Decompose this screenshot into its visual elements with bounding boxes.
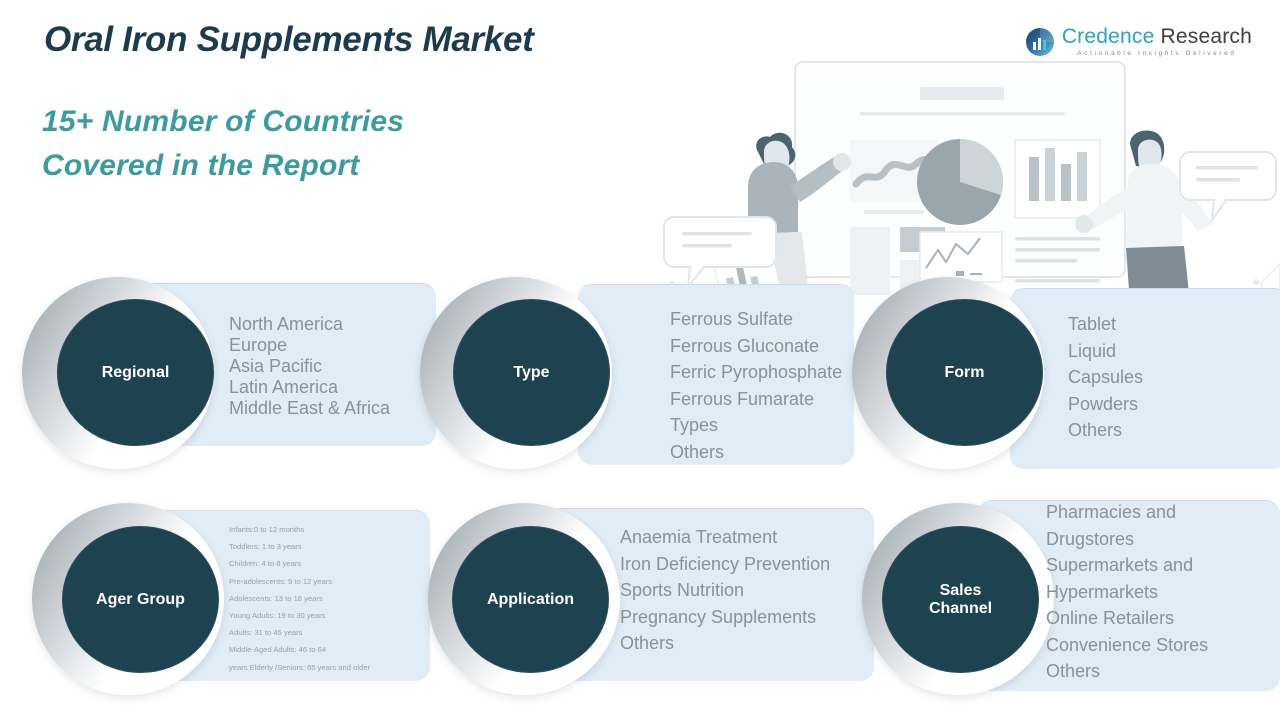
bubble-form[interactable]: Form — [886, 299, 1043, 446]
list-item: Liquid — [1068, 338, 1268, 365]
bubble-label-line-2: Channel — [929, 600, 992, 618]
list-item: Toddlers: 1 to 3 years — [229, 538, 429, 555]
logo-name: Credence Research — [1062, 26, 1252, 47]
bubble-regional[interactable]: Regional — [57, 299, 214, 446]
bubble-type[interactable]: Type — [453, 299, 610, 446]
list-item: Ferrous Sulfate — [670, 306, 860, 333]
list-item: Iron Deficiency Prevention — [620, 551, 870, 578]
list-item: Capsules — [1068, 364, 1268, 391]
list-item: Young Adults: 19 to 30 years — [229, 607, 429, 624]
bubble-application[interactable]: Application — [452, 526, 609, 673]
logo-name-part2: Research — [1161, 25, 1252, 48]
list-item: years Elderly /Seniors: 65 years and old… — [229, 659, 429, 676]
list-item: North America — [229, 314, 459, 335]
list-item: Infants:0 to 12 months — [229, 521, 429, 538]
page-subtitle: 15+ Number of Countries Covered in the R… — [42, 100, 404, 188]
items-ager-group: Infants:0 to 12 months Toddlers: 1 to 3 … — [229, 521, 429, 676]
items-sales-channel: Pharmacies and Drugstores Supermarkets a… — [1046, 499, 1251, 685]
items-type: Ferrous Sulfate Ferrous Gluconate Ferric… — [670, 306, 860, 465]
list-item: Others — [1068, 417, 1268, 444]
list-item: Pharmacies and Drugstores — [1046, 499, 1251, 552]
bubble-label-line-1: Sales — [940, 582, 982, 600]
list-item: Online Retailers — [1046, 605, 1251, 632]
items-form: Tablet Liquid Capsules Powders Others — [1068, 311, 1268, 444]
bubble-sales-channel[interactable]: Sales Channel — [882, 526, 1039, 673]
list-item: Pregnancy Supplements — [620, 604, 870, 631]
list-item: Others — [1046, 658, 1251, 685]
subtitle-line-1: 15+ Number of Countries — [42, 100, 404, 144]
list-item: Sports Nutrition — [620, 577, 870, 604]
page-title: Oral Iron Supplements Market — [44, 20, 534, 60]
logo-name-part1: Credence — [1062, 25, 1155, 48]
list-item: Middle-Aged Adults: 46 to 64 — [229, 641, 429, 658]
list-item: Adolescents: 13 to 18 years — [229, 590, 429, 607]
list-item: Convenience Stores — [1046, 632, 1251, 659]
list-item: Powders — [1068, 391, 1268, 418]
list-item: Ferric Pyrophosphate — [670, 359, 860, 386]
list-item: Supermarkets and Hypermarkets — [1046, 552, 1251, 605]
list-item: Tablet — [1068, 311, 1268, 338]
list-item: Anaemia Treatment — [620, 524, 870, 551]
list-item: Ferrous Gluconate — [670, 333, 860, 360]
list-item: Others — [670, 439, 860, 466]
list-item: Adults: 31 to 45 years — [229, 624, 429, 641]
list-item: Pre-adolescents: 9 to 12 years — [229, 573, 429, 590]
subtitle-line-2: Covered in the Report — [42, 144, 404, 188]
list-item: Ferrous Fumarate Types — [670, 386, 860, 439]
bubble-ager-group[interactable]: Ager Group — [62, 526, 219, 673]
items-application: Anaemia Treatment Iron Deficiency Preven… — [620, 524, 870, 657]
list-item: Others — [620, 630, 870, 657]
list-item: Children: 4 to 8 years — [229, 555, 429, 572]
